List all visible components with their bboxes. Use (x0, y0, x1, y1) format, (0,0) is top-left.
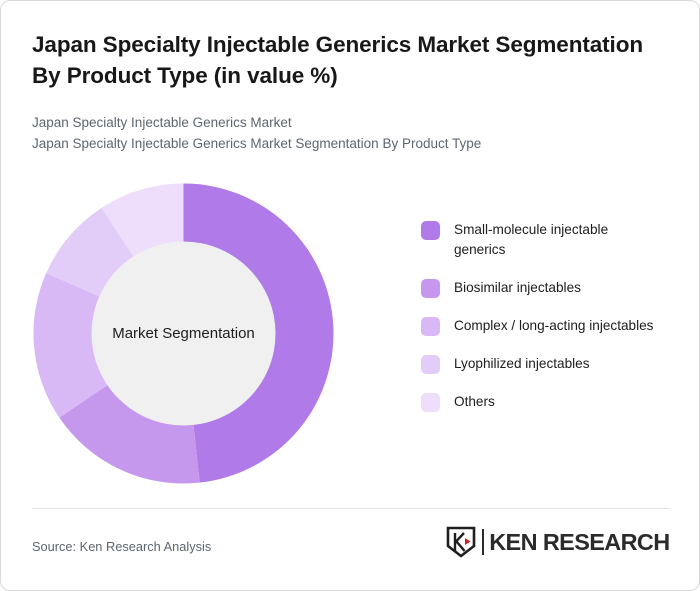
legend-item[interactable]: Small-molecule injectable generics (421, 220, 671, 260)
legend-item[interactable]: Others (421, 392, 671, 412)
legend-swatch (421, 355, 440, 374)
legend-swatch (421, 393, 440, 412)
legend-item-label: Complex / long-acting injectables (454, 316, 653, 336)
footer-divider (32, 508, 670, 509)
donut-chart-svg (33, 183, 334, 484)
subtitle-block: Japan Specialty Injectable Generics Mark… (32, 112, 652, 154)
legend-swatch (421, 279, 440, 298)
subtitle-line-2: Japan Specialty Injectable Generics Mark… (32, 133, 652, 154)
donut-chart: Market Segmentation (33, 183, 334, 484)
chart-card: Japan Specialty Injectable Generics Mark… (0, 0, 700, 591)
donut-hole (92, 242, 276, 426)
legend-item-label: Small-molecule injectable generics (454, 220, 654, 260)
legend-item-label: Others (454, 392, 495, 412)
page-title: Japan Specialty Injectable Generics Mark… (32, 29, 652, 91)
legend-item[interactable]: Biosimilar injectables (421, 278, 671, 298)
legend-item-label: Biosimilar injectables (454, 278, 581, 298)
legend-item[interactable]: Complex / long-acting injectables (421, 316, 671, 336)
legend-swatch (421, 317, 440, 336)
chart-legend: Small-molecule injectable genericsBiosim… (421, 220, 671, 430)
source-note: Source: Ken Research Analysis (32, 539, 211, 554)
ken-research-shield-icon (446, 526, 476, 558)
legend-item-label: Lyophilized injectables (454, 354, 590, 374)
logo-divider (482, 529, 484, 555)
brand-logo: KEN RESEARCH (446, 525, 668, 559)
legend-swatch (421, 221, 440, 240)
subtitle-line-1: Japan Specialty Injectable Generics Mark… (32, 112, 652, 133)
logo-wordmark: KEN RESEARCH (489, 529, 669, 556)
legend-item[interactable]: Lyophilized injectables (421, 354, 671, 374)
